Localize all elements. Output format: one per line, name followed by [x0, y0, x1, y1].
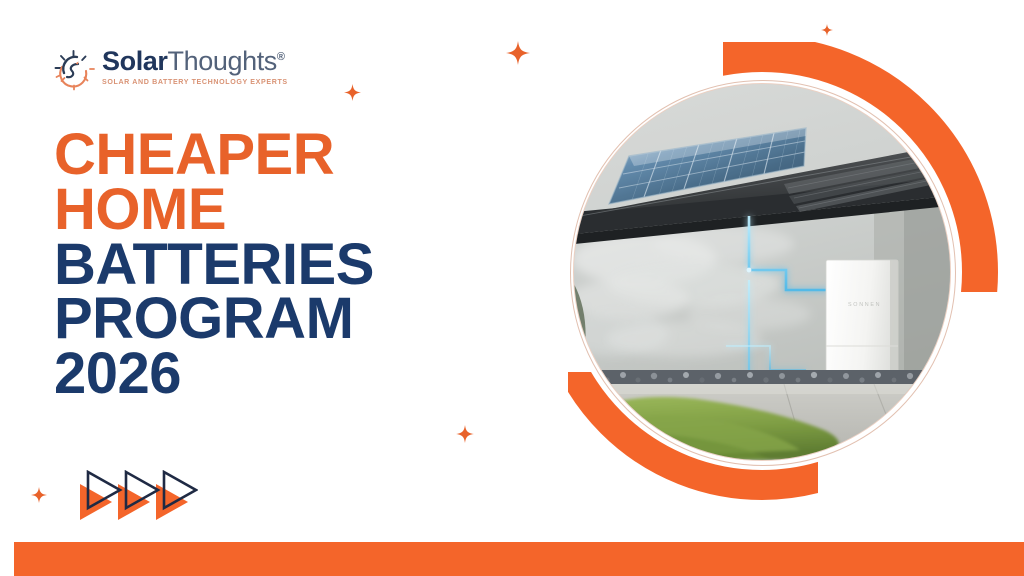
- photo-composition: SONNEN: [548, 42, 1008, 512]
- brand-logo[interactable]: SolarThoughts® SOLAR AND BATTERY TECHNOL…: [52, 45, 288, 93]
- slide-canvas: SONNEN: [0, 0, 1024, 576]
- sun-swirl-icon: [52, 47, 98, 93]
- headline-block: CHEAPER HOME BATTERIES PROGRAM 2026: [54, 128, 524, 402]
- headline-line-1: CHEAPER: [54, 128, 524, 183]
- brand-name-part2: Thoughts: [168, 46, 277, 76]
- sparkle-top-center: [344, 84, 361, 101]
- headline-line-5: 2026: [54, 347, 524, 402]
- sparkle-top-left-of-circle: [506, 41, 530, 65]
- orange-bottom-bar: [14, 542, 1024, 576]
- brand-name: SolarThoughts®: [102, 48, 288, 75]
- home-battery-photo: SONNEN: [574, 84, 950, 460]
- headline-line-2: HOME: [54, 183, 524, 238]
- triple-chevron-arrows: [76, 470, 198, 522]
- sparkle-bottom-left: [31, 487, 47, 503]
- hero-photo-circle: SONNEN: [574, 84, 950, 460]
- sparkle-mid-center: [456, 425, 474, 443]
- brand-name-part1: Solar: [102, 46, 168, 76]
- gravel-border: [574, 370, 950, 384]
- registered-mark: ®: [277, 51, 285, 63]
- sparkle-top-right-small: [821, 24, 833, 36]
- headline-line-3: BATTERIES: [54, 238, 524, 293]
- headline-line-4: PROGRAM: [54, 292, 524, 347]
- svg-text:SONNEN: SONNEN: [848, 302, 881, 308]
- brand-tagline: SOLAR AND BATTERY TECHNOLOGY EXPERTS: [102, 78, 288, 86]
